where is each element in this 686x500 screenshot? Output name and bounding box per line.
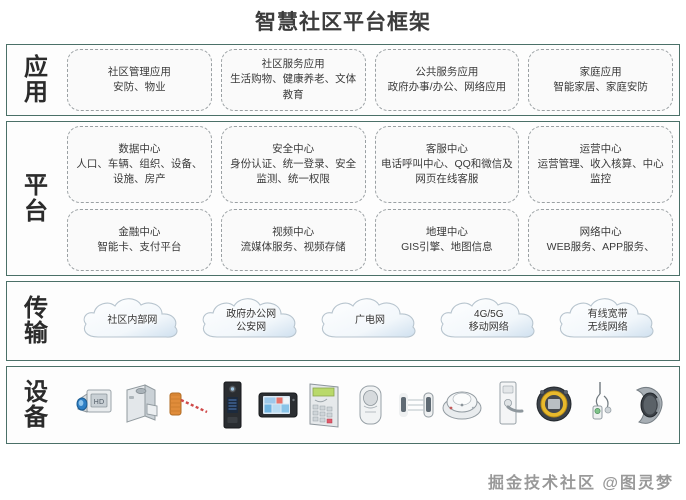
cloud-label-line: 有线宽带 <box>588 308 628 322</box>
cloud-broadband-wireless-network[interactable]: 有线宽带 无线网络 <box>552 292 664 350</box>
card-data-center[interactable]: 数据中心 人口、车辆、组织、设备、设施、房产 <box>67 126 212 203</box>
siren-alarm-icon <box>531 376 577 434</box>
card-title: 安全中心 <box>272 142 314 157</box>
layer-label-char: 设 <box>24 380 48 405</box>
keypad-panel-icon <box>301 376 347 434</box>
layer-platform: 平 台 数据中心 人口、车辆、组织、设备、设施、房产 安全中心 身份认证、统一登… <box>6 121 680 276</box>
layer-body-device: HD <box>65 367 685 443</box>
cloud-label-line: 社区内部网 <box>107 314 157 328</box>
card-desc: WEB服务、APP服务、 <box>547 240 655 255</box>
cloud-broadcast-network[interactable]: 广电网 <box>314 292 426 350</box>
card-desc: 智能家居、家庭安防 <box>553 80 648 95</box>
cloud-label-line: 政府办公网 <box>226 308 276 322</box>
watermark: 掘金技术社区 @图灵梦 <box>488 469 674 493</box>
layer-label-device: 设 备 <box>7 367 65 443</box>
page-title: 智慧社区平台框架 <box>6 0 680 44</box>
card-title: 视频中心 <box>272 225 314 240</box>
card-desc: 政府办事/办公、网络应用 <box>388 80 506 95</box>
layer-label-char: 输 <box>24 321 48 346</box>
card-title: 运营中心 <box>580 142 622 157</box>
cloud-mobile-network[interactable]: 4G/5G 移动网络 <box>433 292 545 350</box>
layer-body-transport: 社区内部网 政府办公网 公安网 <box>65 282 679 360</box>
card-desc: 人口、车辆、组织、设备、设施、房产 <box>73 157 206 187</box>
cloud-label-line: 移动网络 <box>469 321 509 335</box>
cloud-label: 政府办公网 公安网 <box>226 308 276 335</box>
smoke-detector-icon <box>439 376 485 434</box>
card-geo-center[interactable]: 地理中心 GIS引擎、地图信息 <box>375 209 520 271</box>
layer-label-platform: 平 台 <box>7 122 65 275</box>
device-emergency-button[interactable] <box>577 376 623 434</box>
layer-application: 应 用 社区管理应用 安防、物业 社区服务应用 生活购物、健康养老、文体教育 公… <box>6 44 680 116</box>
cloud-label: 广电网 <box>355 314 385 328</box>
layer-body-application: 社区管理应用 安防、物业 社区服务应用 生活购物、健康养老、文体教育 公共服务应… <box>65 45 679 115</box>
layer-label-char: 平 <box>24 173 48 198</box>
card-desc: GIS引擎、地图信息 <box>401 240 493 255</box>
card-home-application[interactable]: 家庭应用 智能家居、家庭安防 <box>528 49 673 111</box>
card-video-center[interactable]: 视频中心 流媒体服务、视频存储 <box>221 209 366 271</box>
card-row: 数据中心 人口、车辆、组织、设备、设施、房产 安全中心 身份认证、统一登录、安全… <box>67 126 673 203</box>
smart-community-framework-diagram: 智慧社区平台框架 应 用 社区管理应用 安防、物业 社区服务应用 生活购物、健康… <box>0 0 686 500</box>
card-customer-service-center[interactable]: 客服中心 电话呼叫中心、QQ和微信及网页在线客服 <box>375 126 520 203</box>
layer-device: 设 备 HD <box>6 366 680 444</box>
card-title: 公共服务应用 <box>415 65 478 80</box>
card-title: 客服中心 <box>426 142 468 157</box>
card-desc: 运营管理、收入核算、中心监控 <box>534 157 667 187</box>
card-desc: 生活购物、健康养老、文体教育 <box>227 72 360 102</box>
card-network-center[interactable]: 网络中心 WEB服务、APP服务、 <box>528 209 673 271</box>
turnstile-gate-icon <box>117 376 163 434</box>
card-public-service[interactable]: 公共服务应用 政府办事/办公、网络应用 <box>375 49 520 111</box>
cloud-label: 4G/5G 移动网络 <box>469 308 509 335</box>
device-siren-alarm[interactable] <box>531 376 577 434</box>
device-door-station[interactable] <box>209 376 255 434</box>
smart-watch-icon <box>623 376 669 434</box>
card-desc: 电话呼叫中心、QQ和微信及网页在线客服 <box>381 157 514 187</box>
device-door-lock[interactable] <box>485 376 531 434</box>
card-desc: 身份认证、统一登录、安全监测、统一权限 <box>227 157 360 187</box>
device-row: HD <box>67 371 679 439</box>
card-desc: 流媒体服务、视频存储 <box>241 240 346 255</box>
device-hd-camera[interactable]: HD <box>71 376 117 434</box>
layer-label-char: 用 <box>24 80 48 105</box>
cloud-label: 有线宽带 无线网络 <box>588 308 628 335</box>
device-keypad-panel[interactable] <box>301 376 347 434</box>
card-title: 家庭应用 <box>580 65 622 80</box>
pir-motion-detector-icon <box>347 376 393 434</box>
cloud-label: 社区内部网 <box>107 314 157 328</box>
layer-body-platform: 数据中心 人口、车辆、组织、设备、设施、房产 安全中心 身份认证、统一登录、安全… <box>65 122 679 275</box>
device-turnstile-gate[interactable] <box>117 376 163 434</box>
card-row: 金融中心 智能卡、支付平台 视频中心 流媒体服务、视频存储 地理中心 GIS引擎… <box>67 209 673 271</box>
indoor-monitor-icon <box>255 376 301 434</box>
card-finance-center[interactable]: 金融中心 智能卡、支付平台 <box>67 209 212 271</box>
layer-label-char: 备 <box>24 405 48 430</box>
layer-transport: 传 输 社区内部网 <box>6 281 680 361</box>
emergency-button-icon <box>577 376 623 434</box>
cloud-label-line: 广电网 <box>355 314 385 328</box>
device-smart-watch[interactable] <box>623 376 669 434</box>
layer-label-char: 台 <box>24 199 48 224</box>
cloud-row: 社区内部网 政府办公网 公安网 <box>67 286 673 356</box>
card-community-service[interactable]: 社区服务应用 生活购物、健康养老、文体教育 <box>221 49 366 111</box>
svg-text:HD: HD <box>94 398 105 406</box>
device-smoke-detector[interactable] <box>439 376 485 434</box>
device-beam-sensor[interactable] <box>393 376 439 434</box>
card-operation-center[interactable]: 运营中心 运营管理、收入核算、中心监控 <box>528 126 673 203</box>
card-title: 社区服务应用 <box>262 57 325 72</box>
card-title: 数据中心 <box>118 142 160 157</box>
card-title: 社区管理应用 <box>108 65 171 80</box>
door-lock-icon <box>485 376 531 434</box>
hd-camera-icon: HD <box>71 376 117 434</box>
cloud-label-line: 无线网络 <box>588 321 628 335</box>
card-desc: 智能卡、支付平台 <box>97 240 181 255</box>
card-community-management[interactable]: 社区管理应用 安防、物业 <box>67 49 212 111</box>
card-row: 社区管理应用 安防、物业 社区服务应用 生活购物、健康养老、文体教育 公共服务应… <box>67 49 673 111</box>
layer-label-char: 传 <box>24 296 48 321</box>
card-title: 地理中心 <box>426 225 468 240</box>
cloud-label-line: 4G/5G <box>469 308 509 322</box>
card-title: 金融中心 <box>118 225 160 240</box>
layer-label-application: 应 用 <box>7 45 65 115</box>
door-station-icon <box>209 376 255 434</box>
barrier-gate-icon <box>163 376 209 434</box>
cloud-community-intranet[interactable]: 社区内部网 <box>76 292 188 350</box>
layer-label-char: 应 <box>24 55 48 80</box>
card-desc: 安防、物业 <box>113 80 166 95</box>
cloud-government-police-network[interactable]: 政府办公网 公安网 <box>195 292 307 350</box>
device-barrier-gate[interactable] <box>163 376 209 434</box>
card-title: 网络中心 <box>580 225 622 240</box>
layer-label-transport: 传 输 <box>7 282 65 360</box>
device-indoor-monitor[interactable] <box>255 376 301 434</box>
device-pir-motion-detector[interactable] <box>347 376 393 434</box>
card-security-center[interactable]: 安全中心 身份认证、统一登录、安全监测、统一权限 <box>221 126 366 203</box>
beam-sensor-icon <box>393 376 439 434</box>
cloud-label-line: 公安网 <box>226 321 276 335</box>
